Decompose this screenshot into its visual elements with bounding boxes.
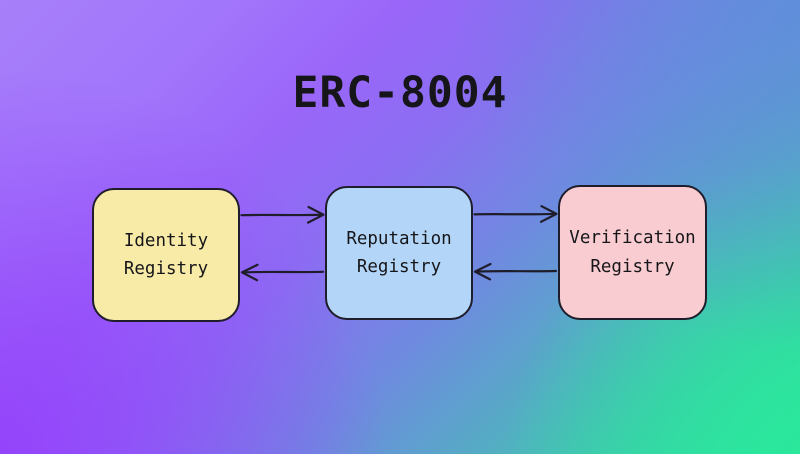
node-identity-registry[interactable]: Identity Registry [92,188,240,322]
connector-identity-to-reputation [242,207,324,223]
node-reputation-registry-line1: Reputation [346,225,451,253]
connector-reputation-to-verification [475,206,557,222]
node-verification-registry-line1: Verification [569,224,695,252]
node-reputation-registry[interactable]: Reputation Registry [325,186,473,320]
node-identity-registry-line1: Identity [124,227,208,255]
connector-verification-to-reputation [475,264,556,279]
node-verification-registry-line2: Registry [590,253,674,281]
node-verification-registry[interactable]: Verification Registry [558,185,707,320]
connector-reputation-to-identity [242,265,323,280]
diagram-canvas: ERC-8004 Identity Registry Reputation Re… [0,0,800,454]
node-identity-registry-line2: Registry [124,255,208,283]
node-reputation-registry-line2: Registry [357,253,441,281]
page-title: ERC-8004 [0,68,800,118]
